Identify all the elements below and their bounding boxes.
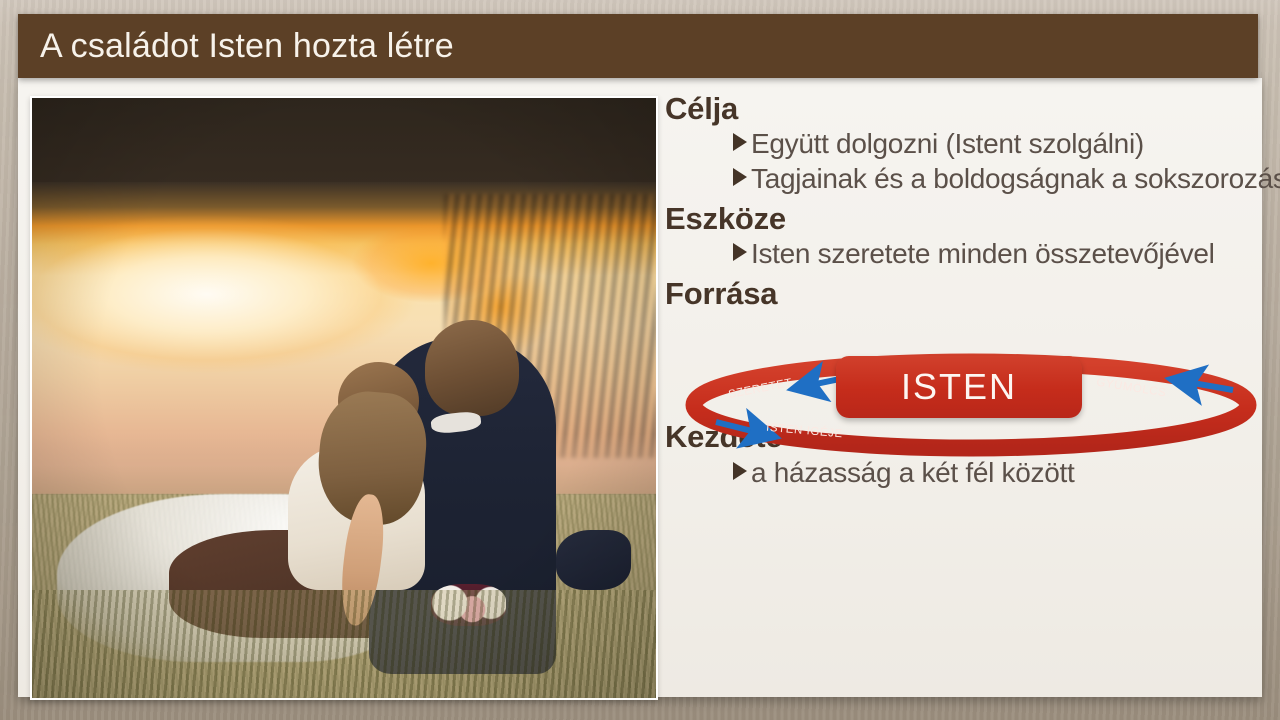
slide-title-bar: A családot Isten hozta létre: [18, 14, 1258, 78]
bullet-text: Tagjainak és a boldogságnak a sokszorozá…: [751, 162, 1280, 196]
slide-canvas: A családot Isten hozta létre: [0, 0, 1280, 720]
section-eszkoze: Eszköze Isten szeretete minden összetevő…: [665, 202, 1260, 271]
page-title: A családot Isten hozta létre: [18, 27, 454, 66]
triangle-bullet-icon: [733, 133, 747, 151]
heading-celja: Célja: [665, 92, 1260, 125]
heading-eszkoze: Eszköze: [665, 202, 1260, 235]
bullet-celja-1: Együtt dolgozni (Istent szolgálni): [665, 127, 1260, 161]
bullet-text: Isten szeretete minden összetevőjével: [751, 237, 1215, 271]
triangle-bullet-icon: [733, 243, 747, 261]
isten-center-box: ISTEN: [836, 356, 1082, 418]
wedding-photo-frame: [30, 96, 658, 700]
triangle-bullet-icon: [733, 462, 747, 480]
bullet-kezdete-1: a házasság a két fél között: [665, 456, 1260, 490]
bullet-celja-2: Tagjainak és a boldogságnak a sokszorozá…: [665, 162, 1260, 196]
photo-groom-head: [425, 320, 519, 416]
bullet-text: a házasság a két fél között: [751, 456, 1074, 490]
heading-forrasa: Forrása: [665, 277, 1260, 310]
photo-foreground-grass: [32, 590, 656, 698]
isten-cycle-diagram: ISTEN SZERETET ISTEN IGÉJE GYÜMÖLCS: [688, 352, 1254, 460]
isten-label: ISTEN: [901, 366, 1017, 408]
bullet-text: Együtt dolgozni (Istent szolgálni): [751, 127, 1144, 161]
photo-groom-shoe: [556, 530, 631, 590]
wedding-photo: [32, 98, 656, 698]
triangle-bullet-icon: [733, 168, 747, 186]
bullet-eszkoze-1: Isten szeretete minden összetevőjével: [665, 237, 1260, 271]
section-celja: Célja Együtt dolgozni (Istent szolgálni)…: [665, 92, 1260, 196]
